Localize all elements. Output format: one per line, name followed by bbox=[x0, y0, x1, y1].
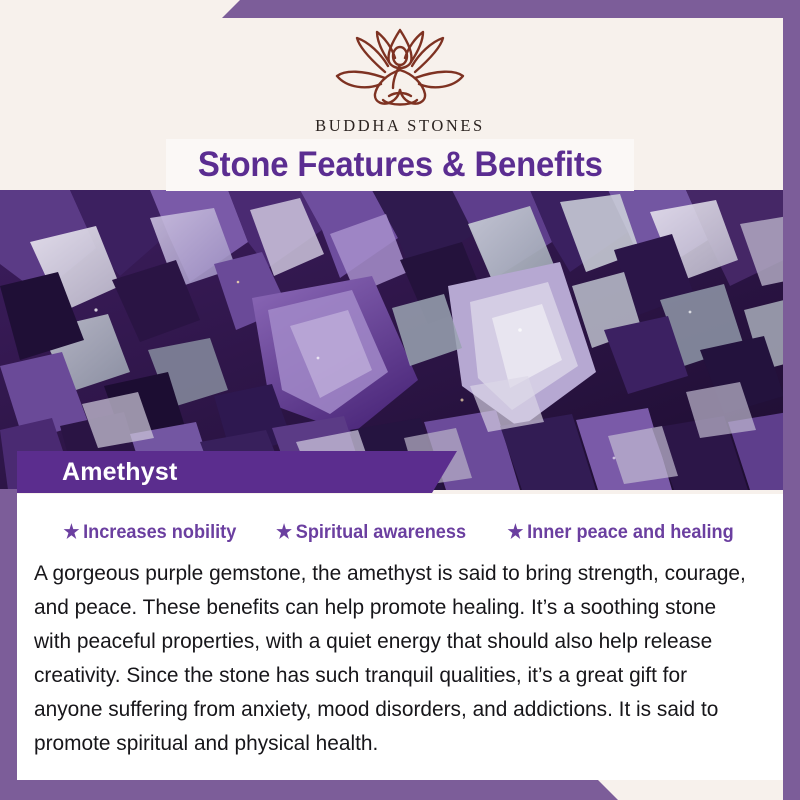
benefit-label: Increases nobility bbox=[83, 521, 236, 544]
star-icon: ★ bbox=[508, 523, 524, 542]
benefit-item: ★ Spiritual awareness bbox=[276, 521, 466, 544]
page-title: Stone Features & Benefits bbox=[198, 145, 603, 185]
frame-border-right bbox=[783, 0, 800, 800]
stone-name-ribbon: Amethyst bbox=[17, 451, 457, 493]
amethyst-hero-image bbox=[0, 190, 800, 490]
brand-wordmark: BUDDHA STONES bbox=[315, 116, 485, 136]
star-icon: ★ bbox=[64, 523, 80, 542]
benefits-row: ★ Increases nobility ★ Spiritual awarene… bbox=[17, 512, 783, 552]
benefit-item: ★ Inner peace and healing bbox=[508, 521, 734, 544]
star-icon: ★ bbox=[276, 523, 292, 542]
stone-name-label: Amethyst bbox=[62, 458, 178, 487]
lotus-meditation-icon bbox=[325, 26, 475, 114]
benefit-label: Inner peace and healing bbox=[527, 521, 734, 544]
stone-info-card: BUDDHA STONES Stone Features & Benefits … bbox=[0, 0, 800, 800]
stone-description: A gorgeous purple gemstone, the amethyst… bbox=[34, 556, 754, 760]
benefit-item: ★ Increases nobility bbox=[64, 521, 237, 544]
benefit-label: Spiritual awareness bbox=[296, 521, 466, 544]
page-title-band: Stone Features & Benefits bbox=[166, 139, 634, 191]
brand-logo: BUDDHA STONES bbox=[315, 26, 485, 136]
frame-border-left bbox=[0, 489, 17, 800]
